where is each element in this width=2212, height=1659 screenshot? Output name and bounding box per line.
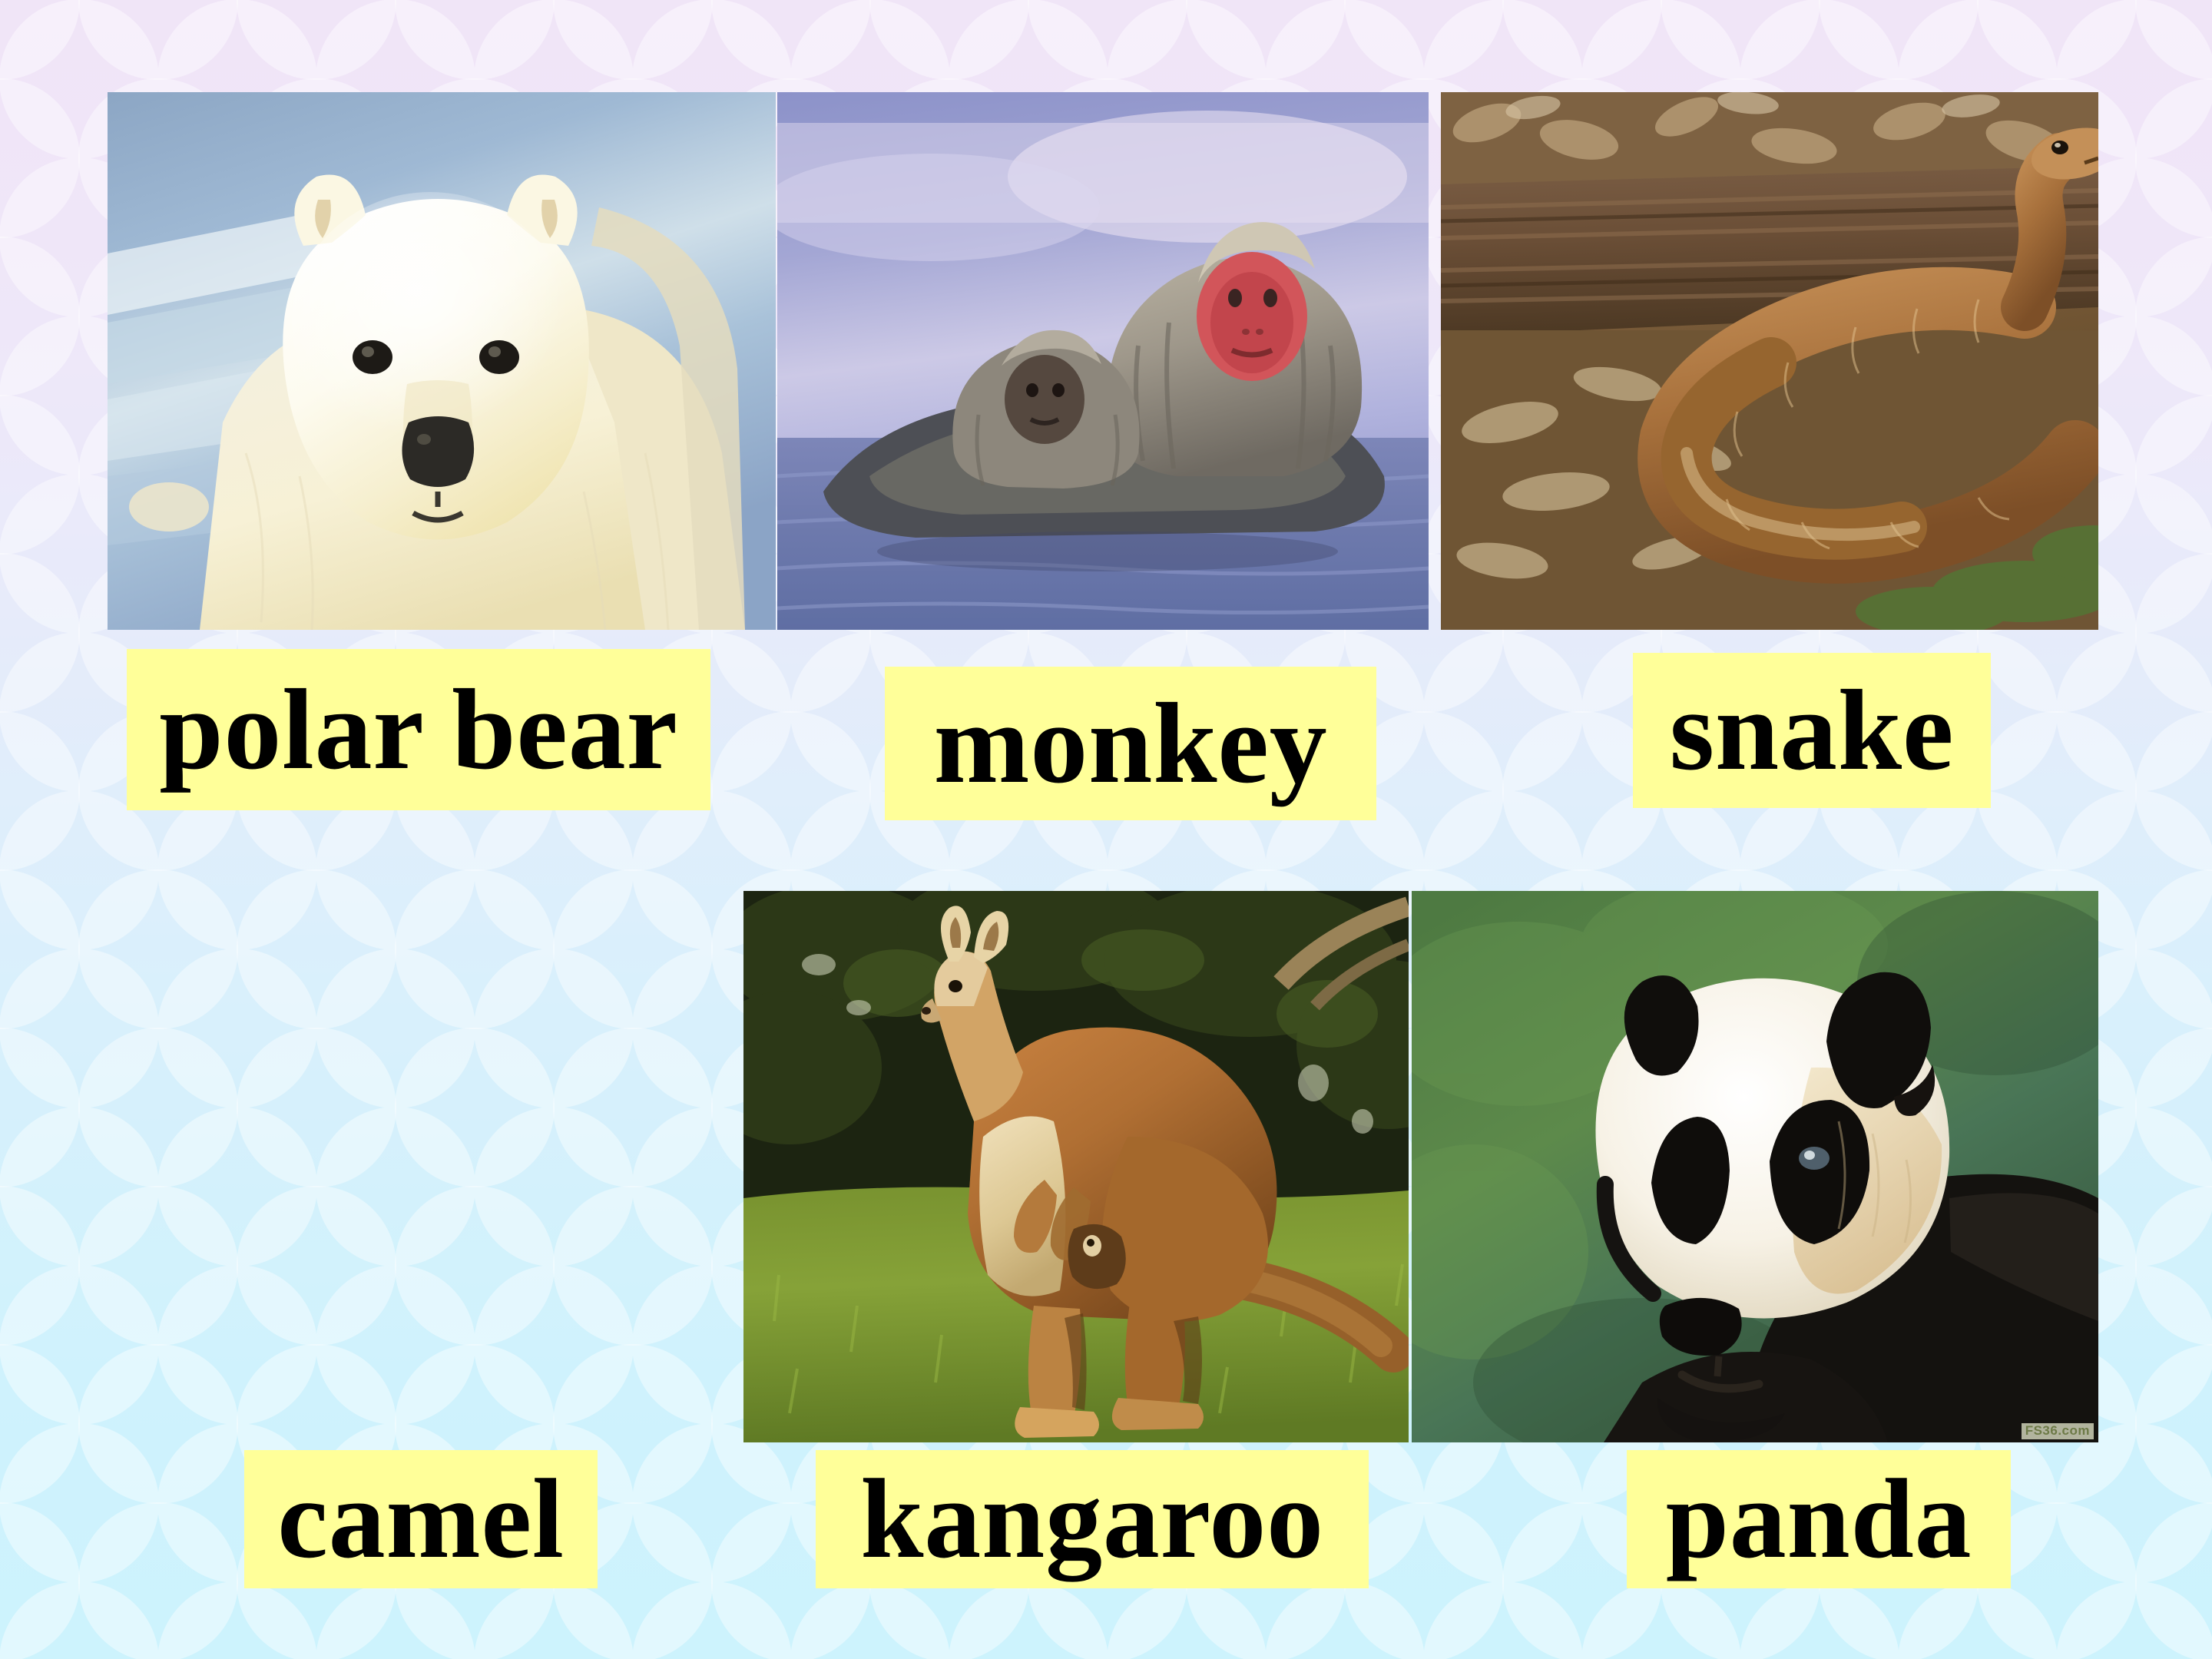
slide-canvas: polar bear monkey snake (0, 0, 2212, 1659)
panda-photo: FS36.com (1412, 891, 2098, 1442)
label-polar-bear-text: polar bear (159, 672, 678, 787)
polar-bear-photo (108, 92, 776, 630)
snake-photo (1441, 92, 2098, 630)
label-polar-bear: polar bear (127, 649, 710, 810)
label-camel-text: camel (277, 1462, 564, 1576)
label-snake-text: snake (1670, 673, 1955, 788)
label-kangaroo-text: kangaroo (860, 1462, 1324, 1576)
label-camel: camel (244, 1450, 598, 1588)
monkey-photo (777, 92, 1429, 630)
label-snake: snake (1633, 653, 1991, 808)
label-panda-text: panda (1666, 1462, 1972, 1576)
label-monkey-text: monkey (934, 686, 1328, 801)
kangaroo-photo (743, 891, 1409, 1442)
label-panda: panda (1627, 1450, 2011, 1588)
label-monkey: monkey (885, 667, 1376, 820)
label-kangaroo: kangaroo (816, 1450, 1369, 1588)
panda-watermark: FS36.com (2022, 1423, 2094, 1439)
